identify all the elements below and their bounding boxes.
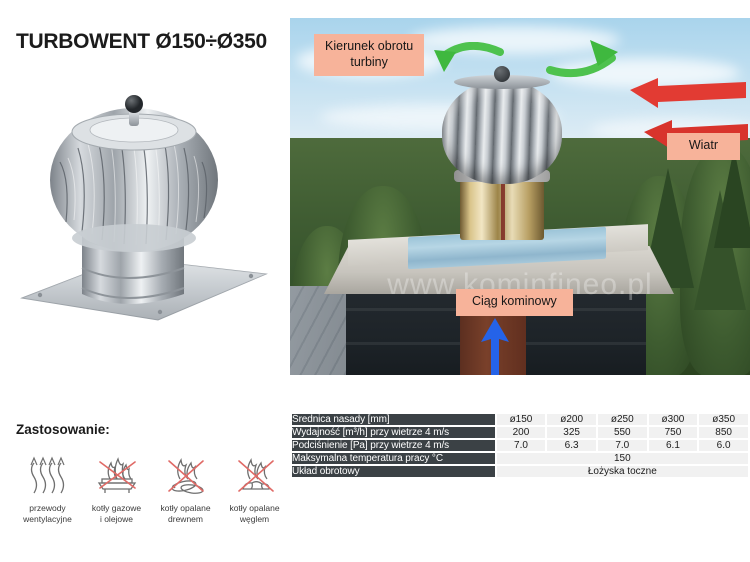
turbine-cowl-illustration (8, 62, 280, 322)
turbine-head (442, 80, 562, 184)
spec-cell: 150 (497, 453, 748, 464)
spec-cell: 750 (649, 427, 698, 438)
spec-cell: ø250 (598, 414, 647, 425)
spec-row-label: Maksymalna temperatura pracy °C (292, 453, 495, 464)
label-wind: Wiatr (667, 133, 740, 160)
spec-row-label: Podciśnienie [Pa] przy wietrze 4 m/s (292, 440, 495, 451)
spec-cell: 6.1 (649, 440, 698, 451)
spec-table-row: Średnica nasady [mm]ø150ø200ø250ø300ø350 (292, 414, 748, 425)
application-section: Zastosowanie: (16, 422, 286, 526)
spec-cell: 200 (497, 427, 546, 438)
ventilation-ducts-icon (16, 453, 79, 497)
spec-row-label: Średnica nasady [mm] (292, 414, 495, 425)
application-item: kotły gazowe i olejowe (85, 453, 148, 526)
spec-table-row: Podciśnienie [Pa] przy wietrze 4 m/s7.06… (292, 440, 748, 451)
application-item: przewody wentylacyjne (16, 453, 79, 526)
wood-fired-boiler-icon (154, 453, 217, 497)
spec-cell: 7.0 (598, 440, 647, 451)
coal-fired-boiler-icon (223, 453, 286, 497)
installation-scene-photo: www.kominfineo.pl Kierunek obrotu turbin… (290, 18, 750, 375)
spec-cell: 550 (598, 427, 647, 438)
spec-table-row: Wydajność [m³/h] przy wietrze 4 m/s20032… (292, 427, 748, 438)
label-rotation-direction: Kierunek obrotu turbiny (314, 34, 424, 76)
label-chimney-draft: Ciąg kominowy (456, 289, 573, 316)
application-item-label: kotły opalane węglem (223, 503, 286, 526)
application-icon-row: przewody wentylacyjne (16, 453, 286, 526)
product-photo (8, 62, 280, 322)
specification-table: Średnica nasady [mm]ø150ø200ø250ø300ø350… (290, 412, 750, 479)
draft-arrow-icon (480, 318, 510, 375)
application-item-label: kotły opalane drewnem (154, 503, 217, 526)
page-title: TURBOWENT Ø150÷Ø350 (16, 30, 267, 54)
application-item-label: kotły gazowe i olejowe (85, 503, 148, 526)
conifer-tree (714, 148, 750, 248)
spec-table-body: Średnica nasady [mm]ø150ø200ø250ø300ø350… (292, 414, 748, 477)
turbine-neck (460, 178, 544, 240)
application-item-label: przewody wentylacyjne (16, 503, 79, 526)
spec-cell: 850 (699, 427, 748, 438)
spec-row-label: Wydajność [m³/h] przy wietrze 4 m/s (292, 427, 495, 438)
spec-cell: 6.0 (699, 440, 748, 451)
product-datasheet-page: TURBOWENT Ø150÷Ø350 (0, 0, 750, 562)
application-item: kotły opalane węglem (223, 453, 286, 526)
gas-and-oil-boiler-icon (85, 453, 148, 497)
spec-cell: ø150 (497, 414, 546, 425)
spec-cell: ø350 (699, 414, 748, 425)
spec-row-label: Układ obrotowy (292, 466, 495, 477)
spec-cell: ø200 (547, 414, 596, 425)
rotation-arrow-left-icon (430, 42, 506, 82)
spec-cell: 325 (547, 427, 596, 438)
spec-cell: 6.3 (547, 440, 596, 451)
application-title: Zastosowanie: (16, 422, 286, 437)
rotation-arrow-right-icon (542, 36, 622, 78)
spec-table-row: Układ obrotowyŁożyska toczne (292, 466, 748, 477)
spec-table-row: Maksymalna temperatura pracy °C150 (292, 453, 748, 464)
spec-cell: Łożyska toczne (497, 466, 748, 477)
application-item: kotły opalane drewnem (154, 453, 217, 526)
spec-cell: 7.0 (497, 440, 546, 451)
spec-cell: ø300 (649, 414, 698, 425)
